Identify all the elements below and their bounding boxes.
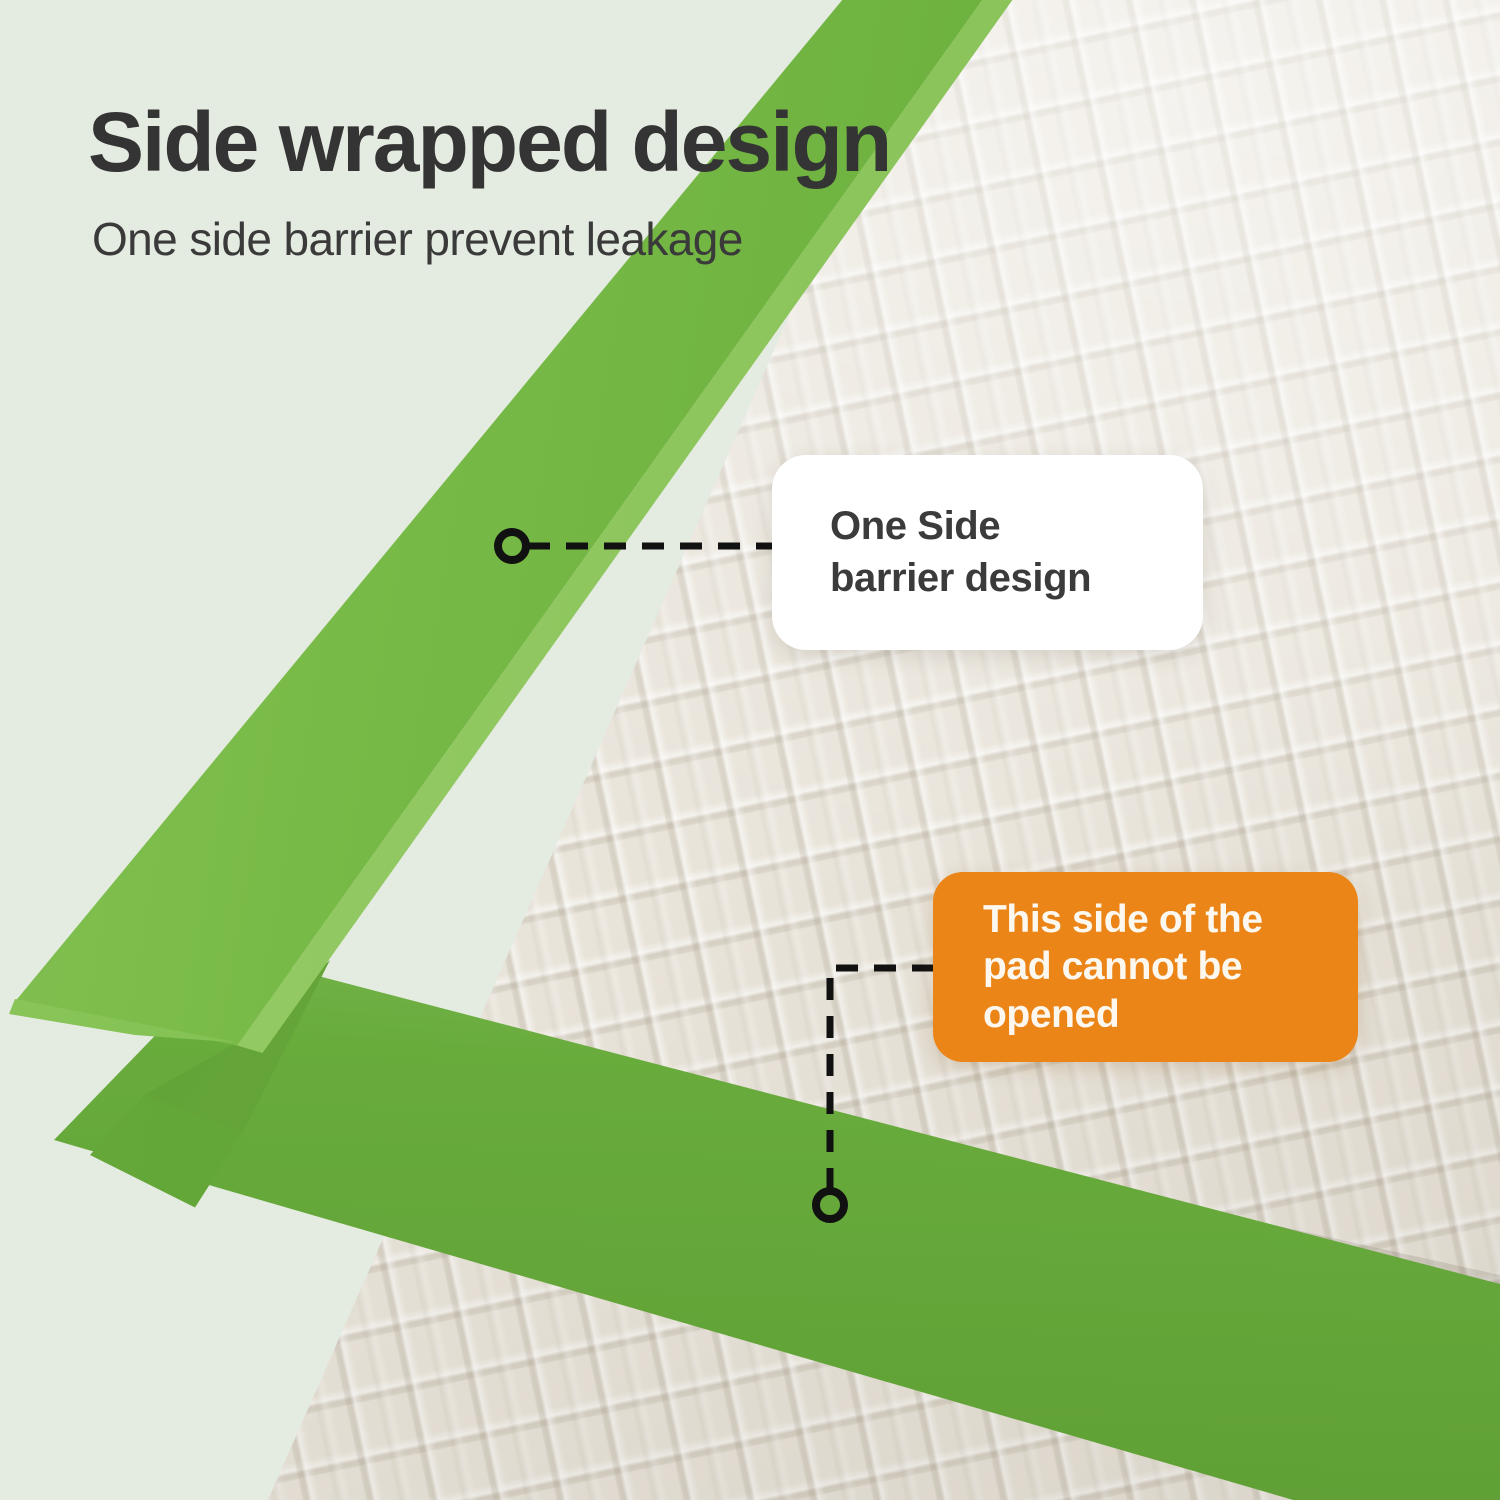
callout-line-1: This side of the	[983, 898, 1263, 941]
callout-line-2: pad cannot be	[983, 945, 1242, 988]
callout-one-side-barrier: One Side barrier design	[772, 455, 1203, 650]
callout-line-3: opened	[983, 993, 1119, 1036]
page-title: Side wrapped design	[88, 98, 890, 186]
callout-cannot-be-opened: This side of the pad cannot be opened	[933, 872, 1358, 1062]
infographic-canvas: Side wrapped design One side barrier pre…	[0, 0, 1500, 1500]
callout-line-2: barrier design	[830, 556, 1091, 600]
page-subtitle: One side barrier prevent leakage	[92, 212, 743, 266]
callout-line-1: One Side	[830, 504, 1000, 548]
callout-cannot-be-opened-text: This side of the pad cannot be opened	[983, 896, 1263, 1039]
callout-one-side-barrier-text: One Side barrier design	[830, 501, 1091, 603]
